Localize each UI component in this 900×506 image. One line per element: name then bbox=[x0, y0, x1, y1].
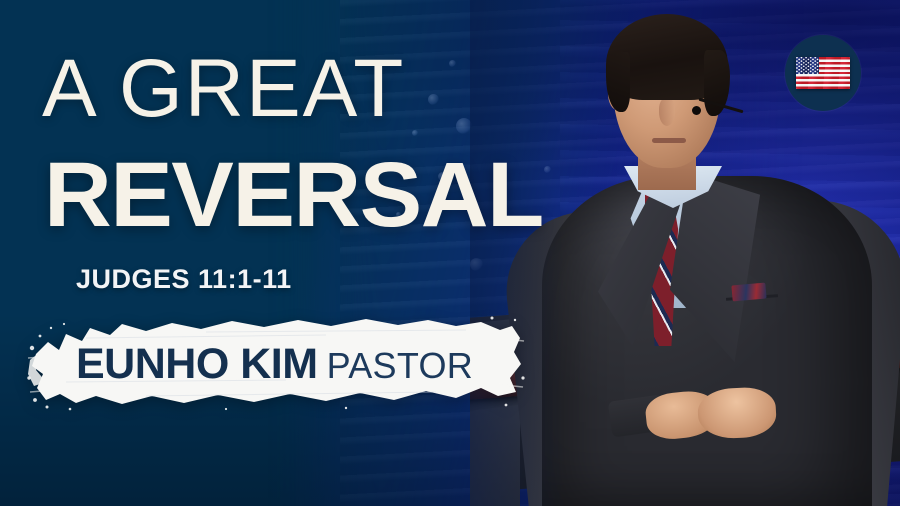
speaker-name: EUNHO KIM bbox=[76, 340, 318, 389]
pocket-square bbox=[731, 283, 766, 302]
language-badge[interactable] bbox=[785, 35, 861, 111]
flag-wave-shading bbox=[796, 57, 850, 89]
nose bbox=[659, 98, 675, 126]
mouth bbox=[652, 138, 686, 143]
sermon-title-line1: A GREAT bbox=[42, 50, 405, 128]
usa-flag-icon bbox=[796, 57, 850, 89]
sermon-title-card: A GREAT REVERSAL JUDGES 11:1-11 bbox=[0, 0, 900, 506]
speaker-role: PASTOR bbox=[327, 345, 474, 387]
sermon-title-line2: REVERSAL bbox=[44, 152, 543, 239]
scripture-reference: JUDGES 11:1-11 bbox=[76, 264, 292, 295]
headset-earpiece-icon bbox=[692, 106, 701, 115]
speaker-name-row: EUNHO KIM PASTOR bbox=[76, 340, 473, 389]
